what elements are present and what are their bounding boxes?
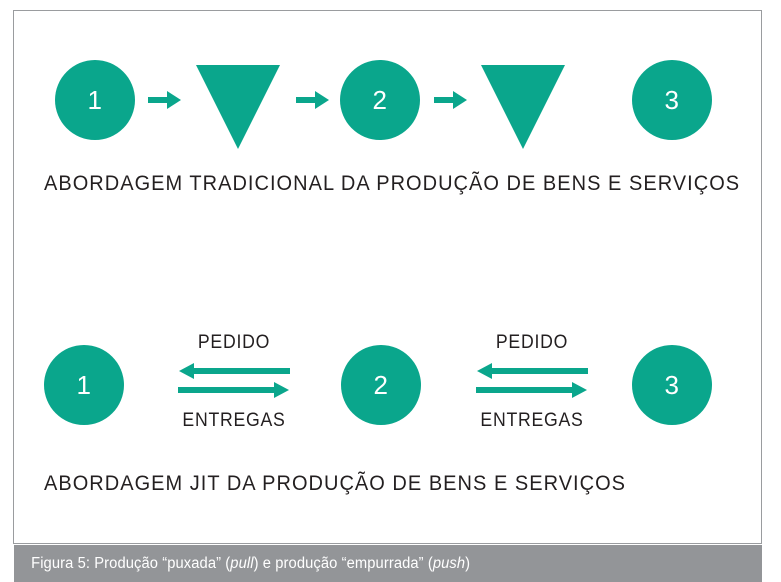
- caption-suffix: ): [465, 555, 470, 572]
- jit-arrow-label-entregas-2: ENTREGAS: [466, 410, 598, 432]
- caption-italic-pull: pull: [230, 555, 253, 572]
- jit-node-circle-3: 3: [632, 345, 712, 425]
- jit-arrow-label-pedido-2: PEDIDO: [475, 332, 588, 354]
- traditional-arrow-right-3: [434, 88, 468, 112]
- jit-arrow-label-pedido-1: PEDIDO: [177, 332, 290, 354]
- traditional-node-triangle-2: [481, 65, 565, 149]
- figure-caption-text: Figura 5: Produção “puxada” (pull) e pro…: [14, 555, 470, 573]
- jit-arrow-label-entregas-1: ENTREGAS: [168, 410, 300, 432]
- traditional-arrow-right-1: [148, 88, 182, 112]
- jit-arrow-right-1: [178, 381, 290, 403]
- figure-root: 1 2 3 ABORDAGEM TRADICIONAL DA PRODUÇÃO …: [0, 0, 781, 582]
- traditional-node-circle-1: 1: [55, 60, 135, 140]
- caption-prefix: Figura 5: Produção “puxada” (: [31, 555, 230, 572]
- figure-caption-bar: Figura 5: Produção “puxada” (pull) e pro…: [14, 545, 762, 582]
- jit-arrow-right-2: [476, 381, 588, 403]
- jit-node-circle-2: 2: [341, 345, 421, 425]
- traditional-node-circle-2: 2: [340, 60, 420, 140]
- caption-middle: ) e produção “empurrada” (: [254, 555, 433, 572]
- traditional-arrow-right-2: [296, 88, 330, 112]
- caption-italic-push: push: [433, 555, 465, 572]
- jit-node-circle-1: 1: [44, 345, 124, 425]
- traditional-node-triangle-1: [196, 65, 280, 149]
- traditional-row-caption: ABORDAGEM TRADICIONAL DA PRODUÇÃO DE BEN…: [44, 171, 740, 196]
- jit-row-caption: ABORDAGEM JIT DA PRODUÇÃO DE BENS E SERV…: [44, 471, 626, 496]
- traditional-node-circle-3: 3: [632, 60, 712, 140]
